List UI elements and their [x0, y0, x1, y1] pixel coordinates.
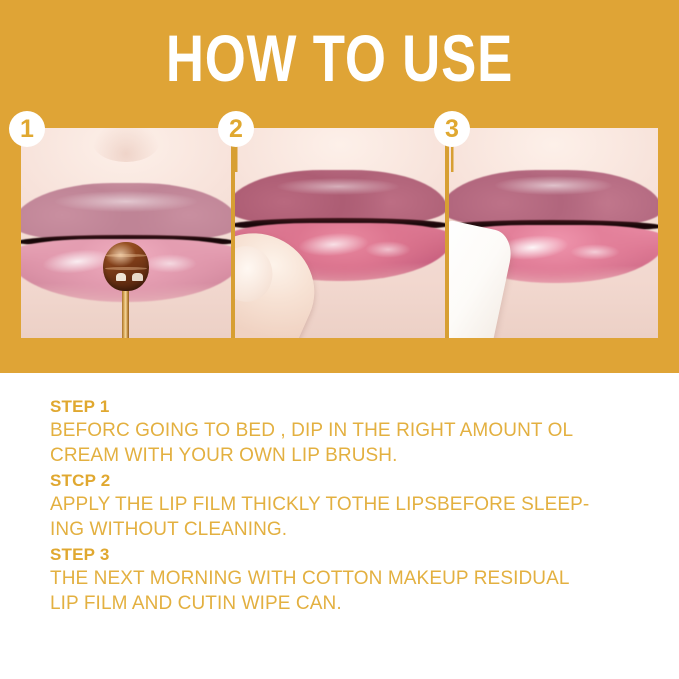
step-1-heading: STEP 1: [50, 396, 650, 418]
step-photo-2: [235, 128, 445, 338]
badge-number-3: 3: [434, 113, 470, 145]
step-photo-3: [449, 128, 658, 338]
step-1-body: BEFORC GOING TO BED , DIP IN THE RIGHT A…: [50, 418, 650, 468]
instruction-step-3: STEP 3 THE NEXT MORNING WITH COTTON MAKE…: [50, 544, 650, 616]
how-to-use-infographic: HOW TO USE: [0, 0, 679, 679]
badge-number-2: 2: [218, 113, 254, 145]
instruction-step-2: STCP 2 APPLY THE LIP FILM THICKLY TOTHE …: [50, 470, 650, 542]
badge-number-1: 1: [9, 113, 45, 145]
upper-lip-sheen: [55, 191, 198, 212]
lower-lip-gloss-secondary: [143, 254, 198, 273]
step-photo-1: [21, 128, 231, 338]
page-title: HOW TO USE: [68, 22, 611, 94]
step-2-heading: STCP 2: [50, 470, 650, 492]
lip-brush-handle: [122, 283, 129, 338]
lip-brush-specular-b: [132, 273, 143, 281]
step-2-body: APPLY THE LIP FILM THICKLY TOTHE LIPSBEF…: [50, 492, 650, 542]
step-3-heading: STEP 3: [50, 544, 650, 566]
lip-brush-specular-a: [116, 273, 127, 281]
instruction-step-1: STEP 1 BEFORC GOING TO BED , DIP IN THE …: [50, 396, 650, 468]
step-image-gallery: [21, 128, 658, 338]
instructions-list: STEP 1 BEFORC GOING TO BED , DIP IN THE …: [50, 396, 650, 618]
step-3-body: THE NEXT MORNING WITH COTTON MAKEUP RESI…: [50, 566, 650, 616]
lip-brush-highlight-band-b: [105, 267, 147, 270]
